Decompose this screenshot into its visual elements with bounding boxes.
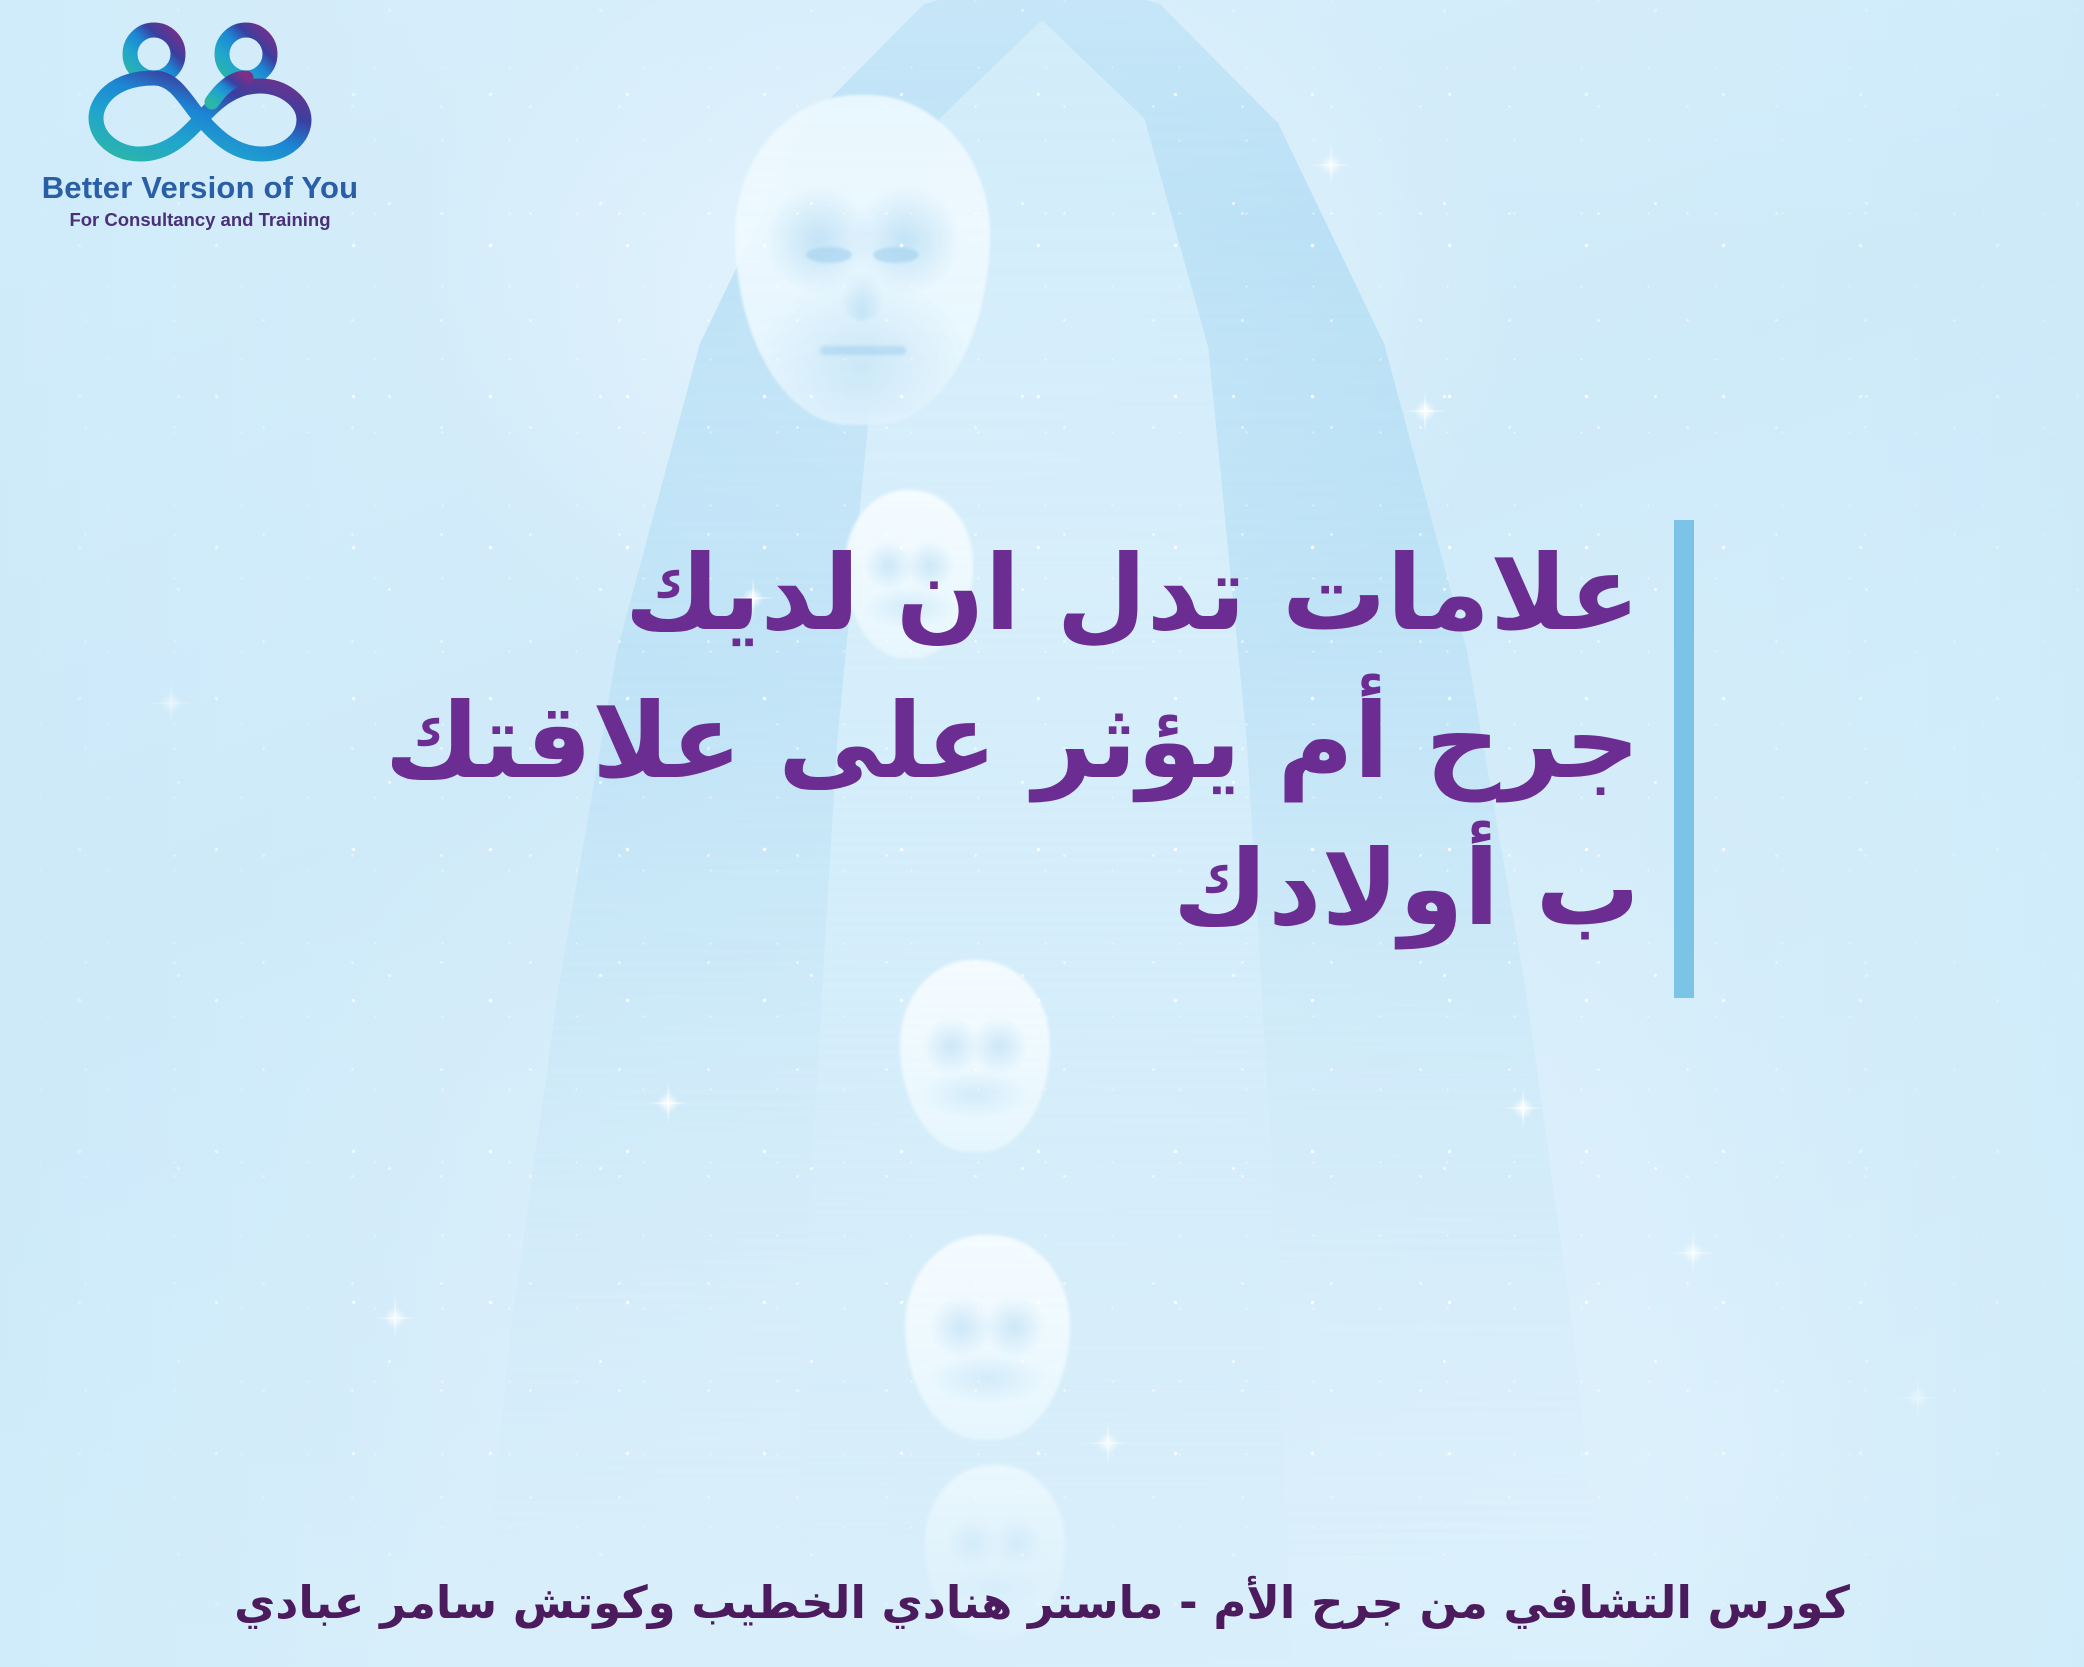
headline-text: علامات تدل ان لديك جرح أم يؤثر على علاقت…: [390, 520, 1640, 998]
headline-line-1: علامات تدل ان لديك: [390, 520, 1640, 668]
infinity-88-logo-icon: [82, 16, 318, 166]
brand-logo[interactable]: Better Version of You For Consultancy an…: [30, 16, 370, 231]
promo-poster: Better Version of You For Consultancy an…: [0, 0, 2084, 1667]
headline-line-2: جرح أم يؤثر على علاقتك: [390, 668, 1640, 816]
accent-bar: [1674, 520, 1694, 998]
logo-title: Better Version of You: [30, 170, 370, 206]
headline-block: علامات تدل ان لديك جرح أم يؤثر على علاقت…: [0, 520, 2084, 998]
logo-subtitle: For Consultancy and Training: [30, 209, 370, 231]
course-caption: كورس التشافي من جرح الأم - ماستر هنادي ا…: [0, 1575, 2084, 1631]
headline-line-3: ب أولادك: [390, 815, 1640, 963]
